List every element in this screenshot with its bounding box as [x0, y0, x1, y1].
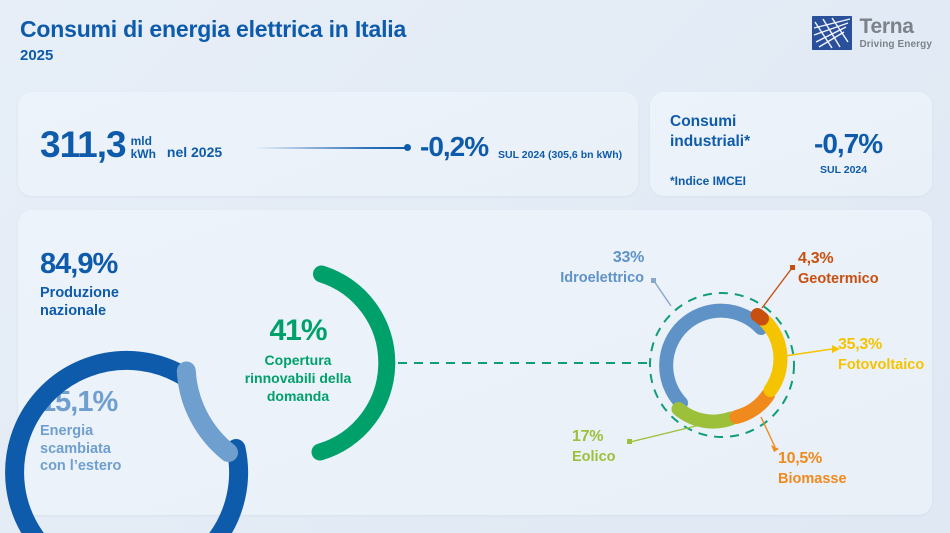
stat-produzione-label-line1: Produzione — [40, 285, 119, 301]
stat-estero-label-line1: Energia — [40, 423, 93, 439]
copertura-label-line3: domanda — [267, 388, 329, 404]
stat-estero-label-line2: scambiata — [40, 441, 111, 457]
stat-estero-label: Energia scambiata con l’estero — [40, 423, 121, 476]
copertura-pct: 41% — [258, 314, 338, 348]
stat-produzione-pct: 84,9% — [40, 250, 119, 279]
page-subtitle-year: 2025 — [20, 47, 406, 64]
label-biomasse-name: Biomasse — [778, 471, 847, 488]
trend-arrow-line — [255, 147, 405, 149]
label-eolico-name: Eolico — [572, 449, 616, 466]
label-geotermico: 4,3% Geotermico — [798, 250, 879, 287]
stat-produzione-label-line2: nazionale — [40, 303, 106, 319]
stat-produzione-label: Produzione nazionale — [40, 285, 119, 320]
label-idroelettrico: 33% Idroelettrico — [530, 249, 644, 286]
label-geotermico-name: Geotermico — [798, 271, 879, 288]
label-fotovoltaico: 35,3% Fotovoltaico — [838, 336, 924, 373]
copertura-label-line2: rinnovabili della — [245, 370, 352, 386]
industriali-label-line1: Consumi — [670, 113, 736, 130]
consumi-period: nel 2025 — [167, 144, 222, 160]
label-eolico-pct: 17% — [572, 428, 616, 446]
industriali-delta: -0,7% — [814, 128, 882, 160]
consumi-unit-line1: mld — [131, 134, 152, 148]
stat-estero-label-line3: con l’estero — [40, 458, 121, 474]
terna-grid-icon — [812, 16, 852, 50]
logo-name: Terna — [859, 16, 932, 37]
page-title: Consumi di energia elettrica in Italia — [20, 16, 406, 43]
label-geotermico-pct: 4,3% — [798, 250, 879, 268]
label-fotovoltaico-name: Fotovoltaico — [838, 357, 924, 374]
industriali-label-line2: industriali* — [670, 133, 750, 150]
copertura-label-line1: Copertura — [265, 352, 332, 368]
consumi-unit: mld kWh — [131, 135, 156, 161]
copertura-label: Copertura rinnovabili della domanda — [218, 352, 378, 406]
consumi-delta: -0,2% — [420, 131, 488, 163]
consumi-delta-note: SUL 2024 (305,6 bn kWh) — [498, 149, 622, 161]
logo-tagline: Driving Energy — [859, 40, 932, 50]
consumi-value-group: 311,3 mld kWh nel 2025 — [40, 126, 222, 163]
stat-produzione-nazionale: 84,9% Produzione nazionale — [40, 250, 119, 320]
label-biomasse-pct: 10,5% — [778, 450, 847, 468]
label-biomasse: 10,5% Biomasse — [778, 450, 847, 487]
infographic-page: Consumi di energia elettrica in Italia 2… — [0, 0, 950, 533]
consumi-value: 311,3 — [40, 126, 126, 163]
label-idroelettrico-pct: 33% — [530, 249, 644, 267]
label-fotovoltaico-pct: 35,3% — [838, 336, 924, 354]
label-idroelettrico-name: Idroelettrico — [530, 270, 644, 287]
trend-arrow — [255, 138, 415, 158]
terna-logo: Terna Driving Energy — [812, 16, 932, 50]
consumi-unit-line2: kWh — [131, 147, 156, 161]
stat-estero-pct: 15,1% — [40, 388, 121, 417]
label-eolico: 17% Eolico — [572, 428, 616, 465]
industriali-label: Consumi industriali* — [670, 112, 750, 152]
stat-energia-estero: 15,1% Energia scambiata con l’estero — [40, 388, 121, 476]
trend-arrow-dot — [404, 144, 411, 151]
page-header: Consumi di energia elettrica in Italia 2… — [20, 16, 406, 64]
industriali-delta-note: SUL 2024 — [820, 164, 867, 176]
industriali-footnote: *Indice IMCEI — [670, 174, 746, 188]
logo-wordmark: Terna Driving Energy — [859, 16, 932, 50]
